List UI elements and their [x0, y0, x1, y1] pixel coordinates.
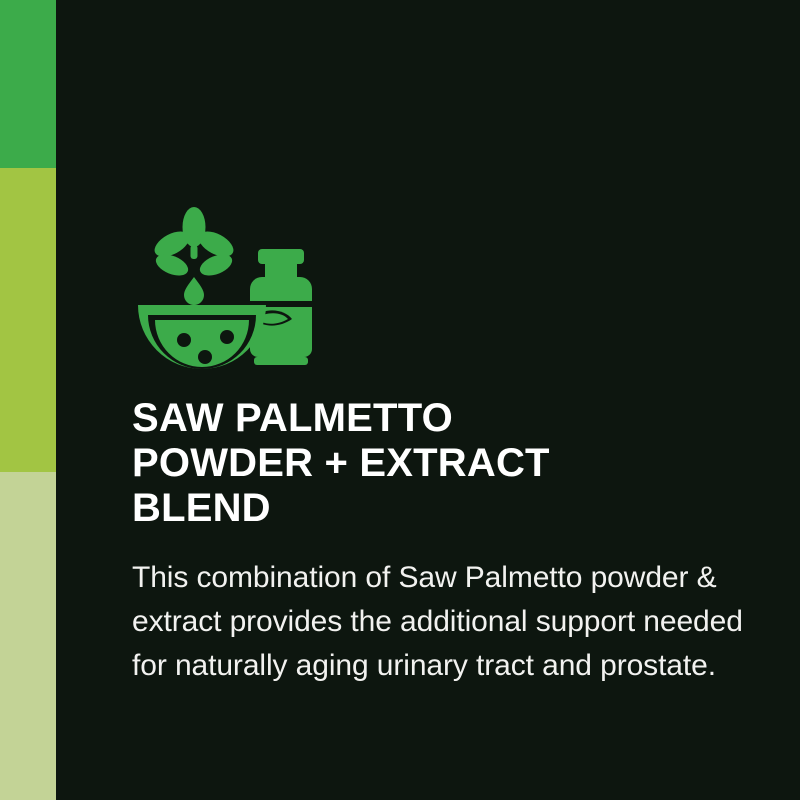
- stripe-band-lime: [0, 168, 56, 472]
- description-text: This combination of Saw Palmetto powder …: [132, 556, 762, 688]
- stripe-band-green: [0, 0, 56, 168]
- card-content: SAW PALMETTO POWDER + EXTRACT BLEND This…: [132, 0, 768, 800]
- mortar-bowl-with-seeds: [138, 305, 266, 369]
- left-color-stripe: [0, 0, 56, 800]
- page-title: SAW PALMETTO POWDER + EXTRACT BLEND: [132, 396, 752, 531]
- product-benefit-card: SAW PALMETTO POWDER + EXTRACT BLEND This…: [0, 0, 800, 800]
- oil-droplet: [184, 277, 204, 305]
- mortar-herb-supplement-icon: [132, 205, 322, 370]
- herb-leaves: [151, 207, 238, 280]
- stripe-band-sage: [0, 472, 56, 800]
